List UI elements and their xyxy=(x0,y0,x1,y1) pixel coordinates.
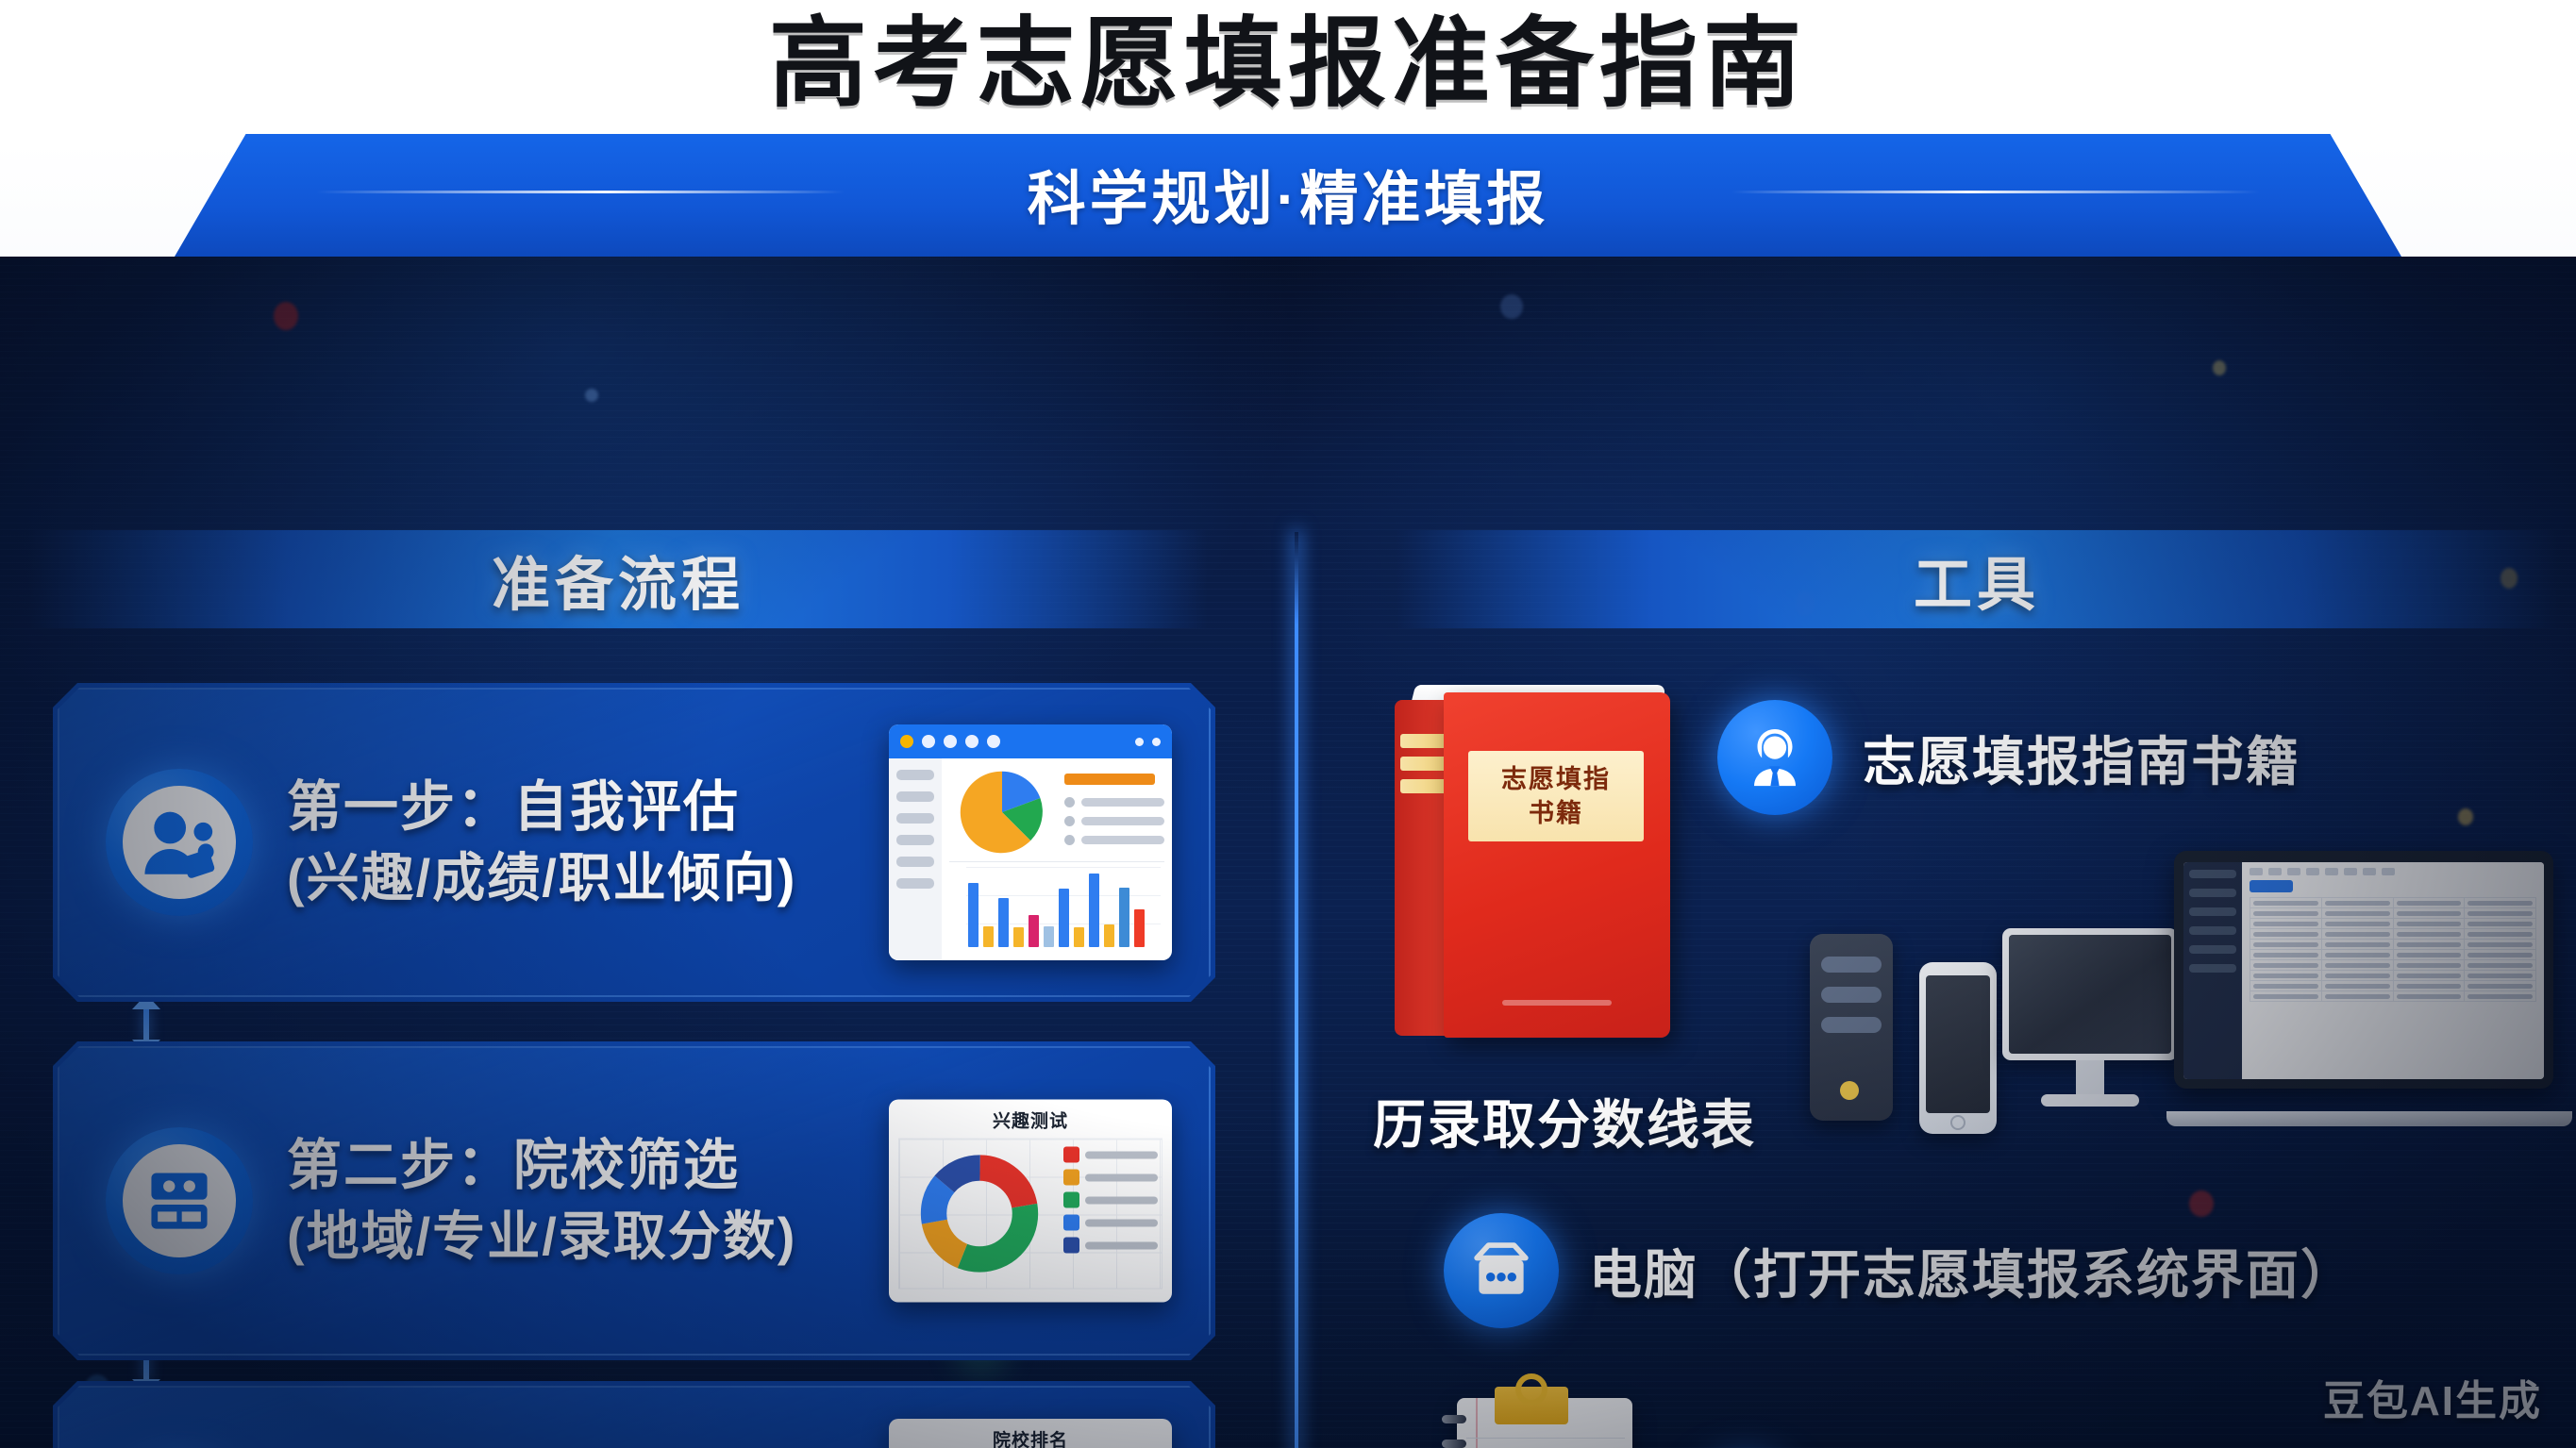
tool-row-computer[interactable]: 电脑（打开志愿填报系统界面） xyxy=(1444,1213,2355,1328)
list-item xyxy=(1064,835,1164,845)
monitor-screen xyxy=(2009,935,2171,1054)
page-subtitle: 科学规划·精准填报 xyxy=(175,151,2401,236)
pie-chart xyxy=(949,768,1055,857)
toolbar-button xyxy=(2306,868,2319,875)
bar xyxy=(1029,915,1039,947)
cell xyxy=(2465,940,2536,950)
page-title: 高考志愿填报准备指南 xyxy=(0,6,2576,124)
dashboard-sidebar xyxy=(889,758,942,960)
sidebar-item xyxy=(2189,945,2236,954)
cell xyxy=(2321,929,2393,940)
step-2-thumbnail: 兴趣测试 xyxy=(889,1100,1172,1303)
step-3-thumbnail: 院校排名 250 200 150 100 50 0 xyxy=(889,1419,1172,1448)
cell xyxy=(2393,981,2465,991)
table-row xyxy=(2250,960,2536,971)
poster-body: 准备流程 工具 第一步 xyxy=(0,257,2576,1448)
cell xyxy=(2393,971,2465,981)
toolbar-button xyxy=(2287,868,2300,875)
sidebar-item xyxy=(2189,889,2236,897)
bar xyxy=(1059,889,1069,947)
step-1-line1: 第一步：自我评估 xyxy=(287,772,796,843)
sidebar-item xyxy=(2189,964,2236,973)
sidebar-item xyxy=(2189,926,2236,935)
bokeh-dot xyxy=(274,302,298,330)
cell xyxy=(2465,908,2536,919)
dashboard-screenshot xyxy=(889,724,1172,960)
book-title-plate: 志愿填指 书籍 xyxy=(1468,751,1644,841)
cell xyxy=(2465,981,2536,991)
table-row xyxy=(2250,940,2536,950)
bullet-icon xyxy=(1064,835,1075,845)
sidebar-item xyxy=(896,857,934,867)
dashboard-top-row xyxy=(949,768,1164,862)
cell xyxy=(2250,950,2322,960)
cell xyxy=(2393,991,2465,1002)
spine-stripe xyxy=(1400,734,1447,748)
table-row xyxy=(2250,950,2536,960)
bar xyxy=(968,883,979,947)
tool-label-computer: 电脑（打开志愿填报系统界面） xyxy=(1589,1233,2355,1309)
spiral-ring xyxy=(1442,1415,1466,1423)
list-item xyxy=(1064,797,1164,807)
toolbar-button xyxy=(2344,868,2357,875)
dashboard-list xyxy=(1064,768,1164,856)
cell xyxy=(2250,991,2322,1002)
infographic-poster: 高考志愿填报准备指南 科学规划·精准填报 准备流程 工具 xyxy=(0,0,2576,1448)
book-cover-rule xyxy=(1502,1000,1612,1006)
step-card-1[interactable]: 第一步：自我评估 (兴趣/成绩/职业倾向) xyxy=(53,683,1215,1002)
cell xyxy=(2465,971,2536,981)
step-1-thumbnail xyxy=(889,724,1172,960)
cell xyxy=(2250,908,2322,919)
primary-action-chip xyxy=(2250,880,2293,892)
cell xyxy=(2250,981,2322,991)
table-row xyxy=(2250,898,2536,908)
tool-row-book[interactable]: 志愿填报指南书籍 xyxy=(1717,700,2300,815)
ruled-line xyxy=(1466,1438,1625,1439)
laptop-base xyxy=(2166,1111,2572,1126)
cell xyxy=(2321,898,2393,908)
sidebar-item xyxy=(896,835,934,845)
app-main-panel xyxy=(2242,862,2544,1079)
flow-arrow-1-2 xyxy=(143,1007,149,1041)
monitor-neck xyxy=(2076,1060,2104,1098)
laptop xyxy=(2174,851,2565,1126)
cell xyxy=(2321,950,2393,960)
window-dot xyxy=(965,735,979,748)
legend-swatch xyxy=(1063,1238,1079,1254)
monitor-base xyxy=(2041,1094,2139,1107)
legend-item xyxy=(1063,1215,1158,1231)
section-header-tools: 工具 xyxy=(1397,530,2557,628)
legend-label xyxy=(1085,1196,1158,1204)
bullet-icon xyxy=(1064,797,1075,807)
step-card-2[interactable]: 第二步：院校筛选 (地域/专业/录取分数) 兴趣测试 xyxy=(53,1041,1215,1360)
bar xyxy=(1119,888,1129,947)
bar xyxy=(1104,924,1114,947)
donut-chart-plot xyxy=(898,1139,1163,1290)
window-dot xyxy=(987,735,1000,748)
donut-legend xyxy=(1060,1140,1162,1289)
table-row xyxy=(2250,991,2536,1002)
filter-grid-icon xyxy=(123,1144,236,1257)
list-line xyxy=(1081,798,1164,807)
sidebar-item xyxy=(2189,870,2236,878)
app-toolbar xyxy=(2250,868,2536,875)
cell xyxy=(2393,919,2465,929)
bar xyxy=(1044,926,1054,947)
cell xyxy=(2393,940,2465,950)
toolbar-button xyxy=(2268,868,2282,875)
bar xyxy=(1134,909,1145,947)
cell xyxy=(2321,908,2393,919)
margin-line xyxy=(1476,1398,1478,1448)
legend-item xyxy=(1063,1192,1158,1208)
cell xyxy=(2465,960,2536,971)
donut-chart-card: 兴趣测试 xyxy=(889,1100,1172,1303)
cell xyxy=(2321,960,2393,971)
legend-item xyxy=(1063,1147,1158,1163)
legend-swatch xyxy=(1063,1147,1079,1163)
toolbar-button xyxy=(2382,868,2395,875)
section-header-process: 准备流程 xyxy=(28,530,1208,628)
accent-bar xyxy=(1064,774,1155,785)
window-dot xyxy=(944,735,957,748)
section-title-tools: 工具 xyxy=(1914,537,2040,622)
dashboard-titlebar xyxy=(889,724,1172,758)
list-item xyxy=(1064,816,1164,826)
section-title-process: 准备流程 xyxy=(492,537,744,622)
app-sidebar xyxy=(2183,862,2242,1079)
phone-home-button xyxy=(1950,1115,1965,1130)
toolbar-button xyxy=(2250,868,2263,875)
legend-label xyxy=(1085,1241,1158,1249)
computer-box-icon xyxy=(1444,1213,1559,1328)
column-divider xyxy=(1295,532,1298,1448)
cell xyxy=(2465,919,2536,929)
poster-header: 高考志愿填报准备指南 科学规划·精准填报 xyxy=(0,0,2576,257)
smartphone xyxy=(1919,962,1997,1134)
spiral-ring xyxy=(1442,1440,1466,1448)
cell xyxy=(2250,919,2322,929)
step-card-3[interactable]: 第三步：志愿填报 (梯度设置/服从调剂) 院校排名 250 200 150 10… xyxy=(53,1381,1215,1448)
monitor-frame xyxy=(2002,928,2178,1060)
score-line-table-caption: 历录取分数线表 xyxy=(1373,1083,1756,1159)
table-row xyxy=(2250,908,2536,919)
list-line xyxy=(1081,817,1164,825)
bar xyxy=(1074,927,1084,947)
cell xyxy=(2250,940,2322,950)
line-chart-title: 院校排名 xyxy=(898,1426,1163,1448)
devices-illustration xyxy=(1810,851,2565,1153)
cell xyxy=(2465,950,2536,960)
step-1-text: 第一步：自我评估 (兴趣/成绩/职业倾向) xyxy=(287,772,796,913)
notepad-illustration xyxy=(1436,1387,1636,1448)
bokeh-dot xyxy=(585,389,598,402)
tower-slot xyxy=(1821,987,1882,1003)
cell xyxy=(2250,960,2322,971)
cell xyxy=(2250,971,2322,981)
user-profile-icon xyxy=(123,786,236,899)
window-dot xyxy=(922,735,935,748)
gridline xyxy=(966,867,1161,868)
spine-stripe xyxy=(1400,779,1447,793)
sidebar-item xyxy=(896,813,934,824)
window-dot xyxy=(900,735,913,748)
bar xyxy=(1089,874,1099,947)
tool-label-book: 志愿填报指南书籍 xyxy=(1863,720,2300,796)
spine-stripe xyxy=(1400,757,1447,771)
subtitle-banner: 科学规划·精准填报 xyxy=(175,134,2401,257)
donut-chart xyxy=(919,1154,1040,1274)
legend-item xyxy=(1063,1238,1158,1254)
table-row xyxy=(2250,919,2536,929)
laptop-screen xyxy=(2183,862,2544,1079)
book-cover-line2: 书籍 xyxy=(1529,797,1583,829)
legend-swatch xyxy=(1063,1170,1079,1186)
bokeh-dot xyxy=(2213,360,2226,375)
sidebar-item xyxy=(896,770,934,780)
cell xyxy=(2393,908,2465,919)
cell xyxy=(2393,960,2465,971)
step-2-line1: 第二步：院校筛选 xyxy=(287,1130,796,1202)
bokeh-dot xyxy=(2458,808,2473,825)
dashboard-body xyxy=(889,758,1172,960)
dashboard-content xyxy=(942,758,1172,960)
table-row xyxy=(2250,981,2536,991)
cell xyxy=(2465,929,2536,940)
cell xyxy=(2393,950,2465,960)
sidebar-item xyxy=(2189,907,2236,916)
guide-book-illustration: 志愿填指 书籍 xyxy=(1395,679,1678,1049)
legend-swatch xyxy=(1063,1215,1079,1231)
step-1-icon-badge xyxy=(106,769,253,916)
step-2-line2: (地域/专业/录取分数) xyxy=(287,1202,796,1272)
tower-slot xyxy=(1821,1017,1882,1033)
line-chart-card: 院校排名 250 200 150 100 50 0 xyxy=(889,1419,1172,1448)
table-row xyxy=(2250,971,2536,981)
tower-led xyxy=(1840,1081,1859,1100)
bar-chart xyxy=(949,862,1164,951)
cell xyxy=(2393,898,2465,908)
cell xyxy=(2321,991,2393,1002)
watermark: 豆包AI生成 xyxy=(2323,1367,2542,1427)
data-table xyxy=(2250,897,2536,1002)
bokeh-dot xyxy=(1500,294,1523,319)
cell xyxy=(2393,929,2465,940)
cell xyxy=(2321,919,2393,929)
cell xyxy=(2250,898,2322,908)
cell xyxy=(2465,898,2536,908)
cell xyxy=(2250,929,2322,940)
desktop-tower xyxy=(1810,934,1893,1121)
cell xyxy=(2321,940,2393,950)
person-suit-icon xyxy=(1717,700,1832,815)
toolbar-button xyxy=(2363,868,2376,875)
sidebar-item xyxy=(896,791,934,802)
laptop-lid xyxy=(2174,851,2553,1089)
step-2-text: 第二步：院校筛选 (地域/专业/录取分数) xyxy=(287,1130,796,1272)
cell xyxy=(2321,981,2393,991)
window-dot xyxy=(1135,738,1144,746)
book-front-cover: 志愿填指 书籍 xyxy=(1444,692,1670,1038)
bar xyxy=(983,926,994,947)
step-1-line2: (兴趣/成绩/职业倾向) xyxy=(287,843,796,913)
legend-label xyxy=(1085,1173,1158,1181)
phone-screen xyxy=(1926,975,1990,1113)
book-cover-line1: 志愿填指 xyxy=(1501,763,1611,795)
table-row xyxy=(2250,929,2536,940)
cell xyxy=(2465,991,2536,1002)
window-dot xyxy=(1152,738,1161,746)
bar xyxy=(998,898,1009,947)
sidebar-item xyxy=(896,878,934,889)
desktop-monitor xyxy=(2002,928,2178,1126)
cell xyxy=(2321,971,2393,981)
donut-chart-title: 兴趣测试 xyxy=(898,1107,1163,1133)
list-line xyxy=(1081,836,1164,844)
legend-item xyxy=(1063,1170,1158,1186)
donut-wrap xyxy=(899,1140,1060,1289)
legend-label xyxy=(1085,1151,1158,1158)
notepad-clip xyxy=(1495,1387,1568,1424)
bar xyxy=(1013,927,1024,947)
bullet-icon xyxy=(1064,816,1075,826)
tower-slot xyxy=(1821,957,1882,973)
legend-swatch xyxy=(1063,1192,1079,1208)
toolbar-button xyxy=(2325,868,2338,875)
step-2-icon-badge xyxy=(106,1127,253,1274)
legend-label xyxy=(1085,1219,1158,1226)
